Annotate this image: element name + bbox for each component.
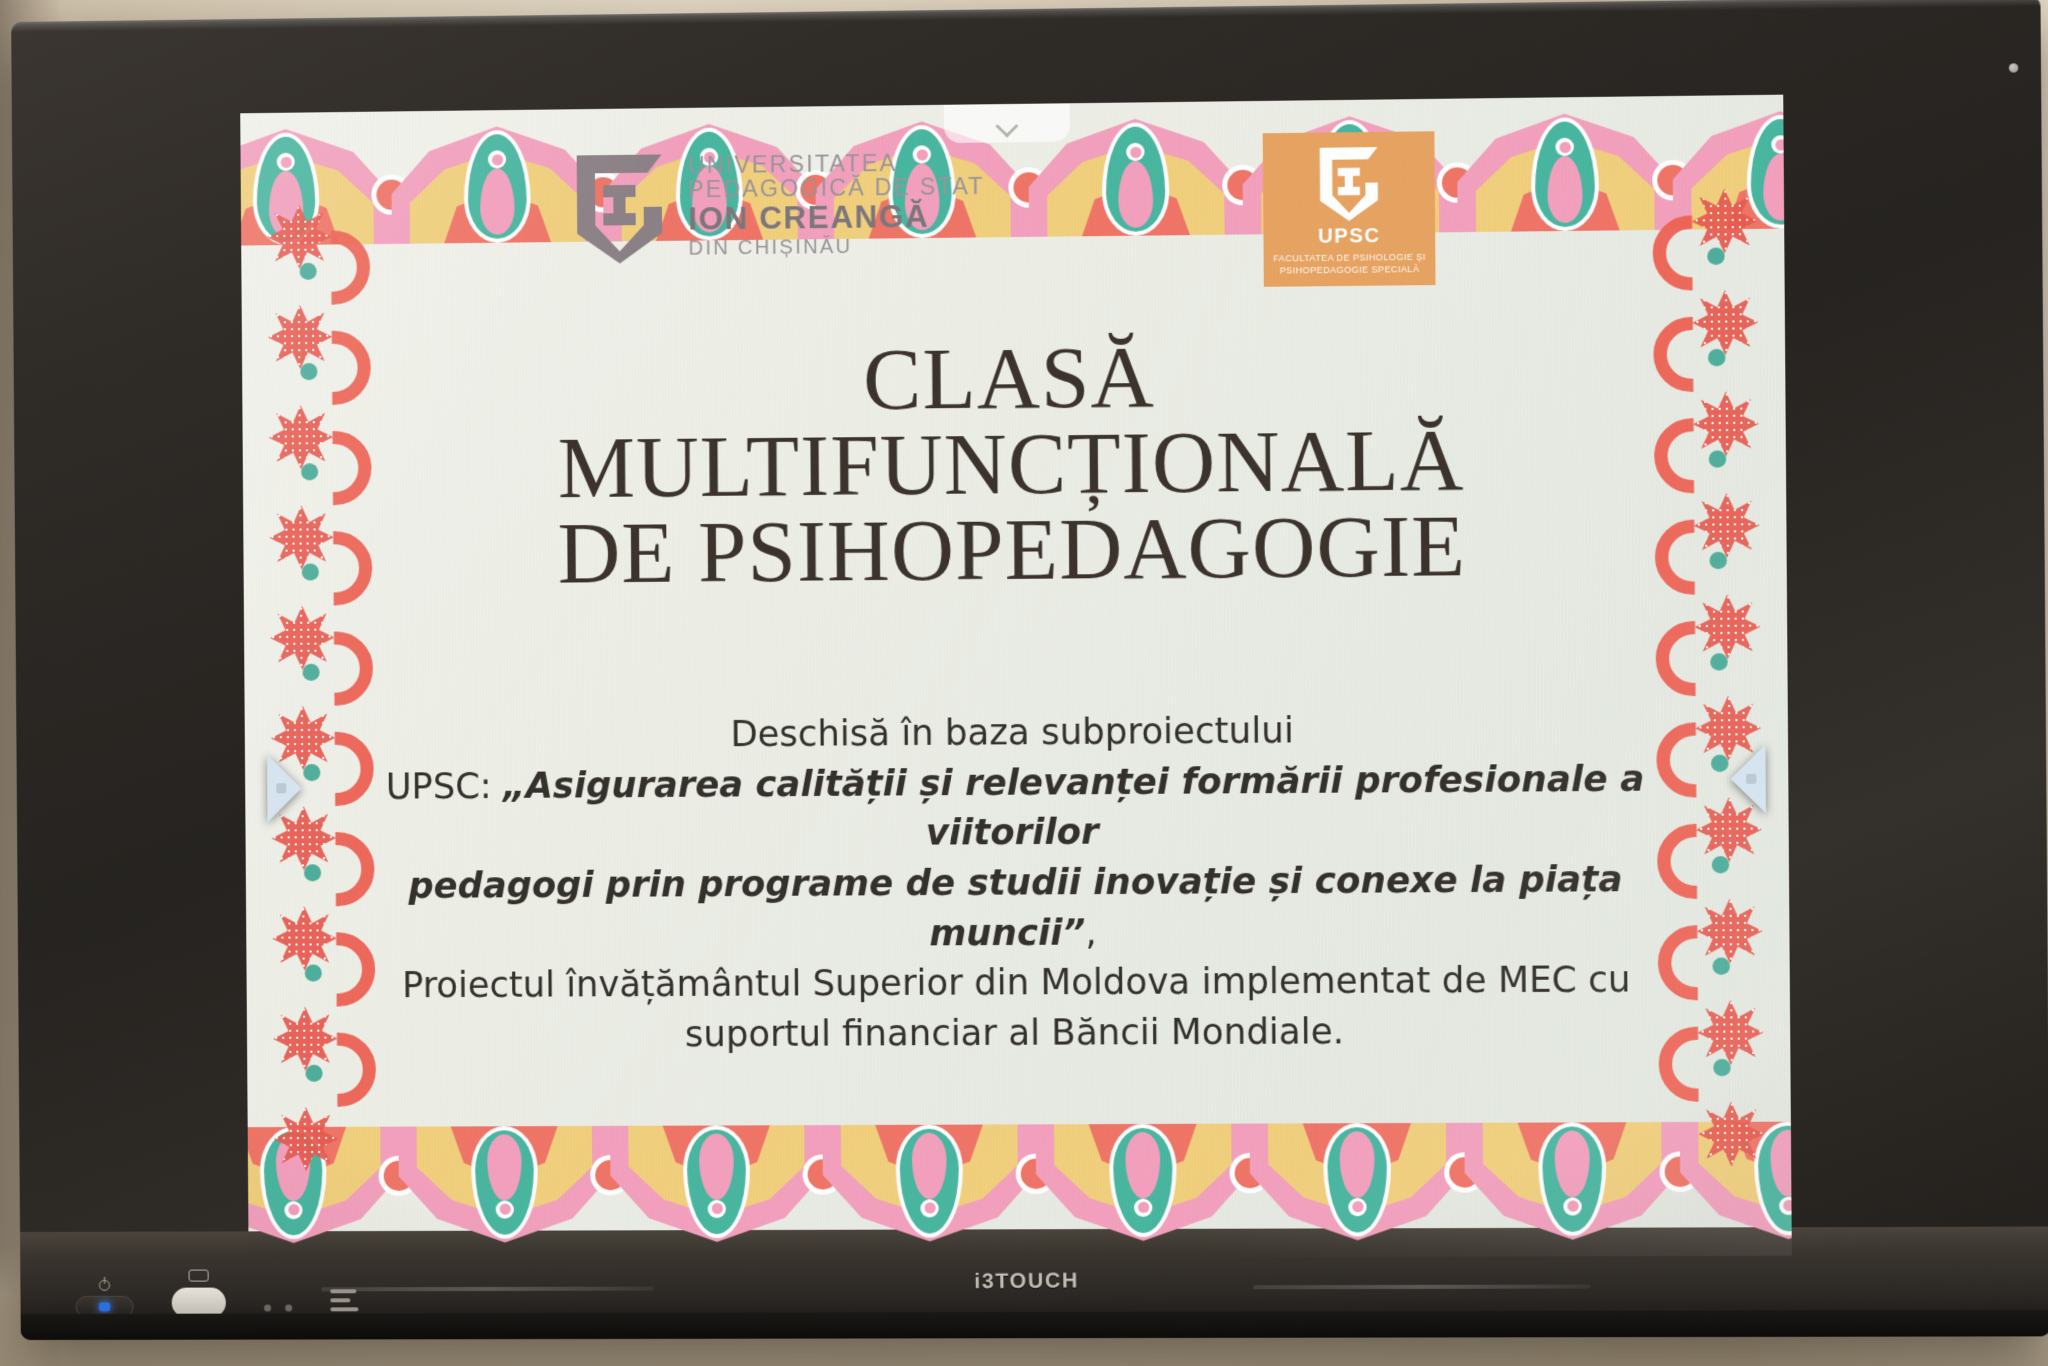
university-line-2: PEDAGOGICĂ DE STAT bbox=[688, 174, 985, 202]
logo-row: UNIVERSITATEA PEDAGOGICĂ DE STAT ION CRE… bbox=[240, 127, 1784, 316]
title-line-2: MULTIFUNCȚIONALĂ bbox=[243, 414, 1787, 514]
faculty-logo: UPSC FACULTATEA DE PSIHOLOGIE ȘI PSIHOPE… bbox=[1263, 131, 1436, 287]
power-led-indicator bbox=[99, 1302, 110, 1311]
ir-receiver-icon bbox=[285, 1304, 292, 1311]
device-brand-label: i3TOUCH bbox=[974, 1269, 1079, 1294]
volume-key-3[interactable] bbox=[330, 1307, 358, 1311]
display-bezel: UNIVERSITATEA PEDAGOGICĂ DE STAT ION CRE… bbox=[11, 0, 2048, 1340]
room-scene: UNIVERSITATEA PEDAGOGICĂ DE STAT ION CRE… bbox=[0, 0, 2048, 1366]
interactive-display: UNIVERSITATEA PEDAGOGICĂ DE STAT ION CRE… bbox=[11, 0, 2048, 1340]
shield-crest-i-icon bbox=[1317, 144, 1381, 222]
faculty-acronym: UPSC bbox=[1318, 225, 1381, 249]
volume-key-1[interactable] bbox=[330, 1289, 356, 1293]
right-handle-grip-icon bbox=[1746, 774, 1756, 784]
university-name-block: UNIVERSITATEA PEDAGOGICĂ DE STAT ION CRE… bbox=[688, 150, 985, 260]
volume-key-2[interactable] bbox=[330, 1298, 350, 1302]
university-logo: UNIVERSITATEA PEDAGOGICĂ DE STAT ION CRE… bbox=[573, 147, 985, 264]
light-sensor-icon bbox=[264, 1304, 271, 1311]
body-line-2-quote: „Asigurarea calității și relevanței form… bbox=[503, 759, 1645, 854]
power-icon bbox=[99, 1280, 110, 1291]
slide-title: CLASĂ MULTIFUNCȚIONALĂ DE PSIHOPEDAGOGIE bbox=[242, 328, 1787, 600]
left-handle-grip-icon bbox=[276, 783, 286, 793]
body-line-3-quote: pedagogi prin programe de studii inovați… bbox=[408, 860, 1622, 954]
bezel-top-highlight bbox=[11, 0, 2040, 32]
body-line-2: UPSC: „Asigurarea calității și relevanțe… bbox=[376, 755, 1656, 863]
body-line-3: pedagogi prin programe de studii inovați… bbox=[376, 856, 1656, 963]
faculty-subtitle: FACULTATEA DE PSIHOLOGIE ȘI PSIHOPEDAGOG… bbox=[1273, 251, 1427, 277]
display-screen[interactable]: UNIVERSITATEA PEDAGOGICĂ DE STAT ION CRE… bbox=[240, 95, 1792, 1260]
home-icon bbox=[189, 1270, 209, 1282]
body-line-5: suportul financiar al Băncii Mondiale. bbox=[377, 1007, 1656, 1063]
shield-crest-i-icon bbox=[573, 150, 667, 264]
body-line-4: Proiectul învățământul Superior din Mold… bbox=[377, 956, 1656, 1012]
university-line-3: ION CREANGĂ bbox=[688, 200, 985, 236]
body-line-2-prefix: UPSC: bbox=[386, 766, 503, 807]
body-line-1: Deschisă în baza subproiectului bbox=[375, 704, 1654, 763]
speaker-grille-right bbox=[1253, 1284, 1591, 1289]
top-toolbar-pull-tab[interactable] bbox=[944, 103, 1070, 143]
slide-body: Deschisă în baza subproiectului UPSC: „A… bbox=[375, 704, 1656, 1062]
title-line-1: CLASĂ bbox=[242, 328, 1786, 429]
ir-sensor-dot bbox=[2009, 63, 2018, 72]
title-line-3: DE PSIHOPEDAGOGIE bbox=[243, 501, 1787, 600]
bezel-bottom-edge bbox=[21, 1310, 2048, 1340]
university-line-4: DIN CHIȘINĂU bbox=[688, 235, 985, 260]
speaker-grille-left bbox=[321, 1287, 654, 1292]
presentation-slide: UNIVERSITATEA PEDAGOGICĂ DE STAT ION CRE… bbox=[240, 95, 1792, 1260]
slide-content: UNIVERSITATEA PEDAGOGICĂ DE STAT ION CRE… bbox=[240, 95, 1792, 1260]
body-line-3-suffix: , bbox=[1085, 913, 1097, 953]
